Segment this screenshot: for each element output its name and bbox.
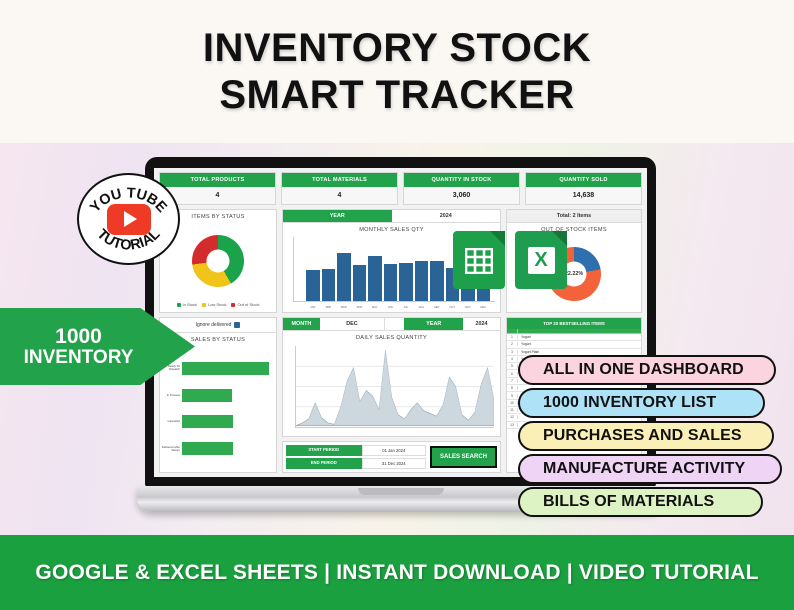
feature-badge-dashboard: ALL IN ONE DASHBOARD [518, 355, 776, 385]
hbar-row: In Process [182, 389, 272, 402]
kpi-card-total-materials: TOTAL MATERIALS 4 [281, 172, 398, 205]
feature-badge-manufacture: MANUFACTURE ACTIVITY [518, 454, 782, 484]
month-selector-value[interactable]: DEC [320, 318, 385, 330]
hbar-label: Cancelled [161, 420, 180, 423]
excel-x-glyph: X [528, 247, 555, 274]
hbar-row: Cancelled [182, 415, 272, 428]
year-selector[interactable]: YEAR 2024 [283, 210, 500, 223]
bar-may: MAY [368, 256, 382, 301]
hbar-delivered-after-return [182, 442, 233, 455]
bar-aug: AUG [415, 261, 429, 301]
ignore-delivered-checkbox[interactable]: Ignore delivered [160, 318, 276, 333]
hbar-cancelled [182, 415, 233, 428]
svg-text:YOU TUBE: YOU TUBE [87, 185, 170, 216]
month-year-selectors[interactable]: MONTH DEC YEAR 2024 [283, 318, 500, 331]
hbar-ready-for-dispatch [182, 362, 269, 375]
svg-text:TUTORIAL: TUTORIAL [94, 226, 164, 254]
hero-section: TOTAL PRODUCTS 4 TOTAL MATERIALS 4 QUANT… [0, 143, 794, 535]
end-period-row[interactable]: END PERIOD 31 Dec 2024 [286, 458, 426, 469]
youtube-tutorial-badge[interactable]: YOU TUBE TUTORIAL [77, 173, 180, 265]
start-period-row[interactable]: START PERIOD 01 Jan 2024 [286, 445, 426, 456]
feature-badges: ALL IN ONE DASHBOARD 1000 INVENTORY LIST… [518, 355, 794, 517]
hbar-in-process [182, 389, 232, 402]
kpi-title: QUANTITY IN STOCK [404, 173, 519, 187]
list-item[interactable]: 1Yogurt [507, 334, 641, 341]
panel-daily-sales-group: MONTH DEC YEAR 2024 DAILY SALES QUANTITY [282, 317, 501, 473]
area-chart-svg [296, 346, 494, 427]
feature-badge-inventory-list: 1000 INVENTORY LIST [518, 388, 765, 418]
kpi-value: 14,638 [526, 187, 641, 204]
kpi-card-quantity-sold: QUANTITY SOLD 14,638 [525, 172, 642, 205]
month-selector-label: MONTH [283, 318, 320, 330]
items-by-status-legend: In Stock Low Stock Out of Stock [160, 299, 276, 312]
title-line-1: INVENTORY STOCK [203, 26, 591, 71]
year-selector-value[interactable]: 2024 [392, 210, 501, 222]
page-header: INVENTORY STOCK SMART TRACKER [0, 0, 794, 143]
list-item[interactable]: 2Yogurt [507, 341, 641, 348]
legend-in-stock: In Stock [177, 302, 197, 307]
donut-percent-label: 22.22% [565, 271, 583, 277]
youtube-badge-bottom-text: TUTORIAL [94, 226, 164, 254]
daily-sales-area-chart [295, 346, 494, 428]
end-period-label: END PERIOD [286, 458, 362, 469]
sheet-grid-glyph [465, 248, 493, 274]
legend-out-of-stock: Out of Stock [231, 302, 259, 307]
feature-badge-bills-of-materials: BILLS OF MATERIALS [518, 487, 763, 517]
period-fields: START PERIOD 01 Jan 2024 END PERIOD 31 D… [286, 445, 426, 469]
kpi-value: 4 [282, 187, 397, 204]
checkbox-icon[interactable] [234, 322, 240, 328]
youtube-badge-top-text: YOU TUBE [87, 185, 170, 216]
start-period-value[interactable]: 01 Jan 2024 [362, 445, 426, 456]
kpi-title: QUANTITY SOLD [526, 173, 641, 187]
badge-curved-text: YOU TUBE TUTORIAL [79, 175, 178, 263]
kpi-title: TOTAL MATERIALS [282, 173, 397, 187]
legend-low-stock: Low Stock [202, 302, 226, 307]
title-line-2: SMART TRACKER [219, 73, 574, 118]
dashboard-middle-row: ITEMS BY STATUS In Stock Low Stock Out o… [159, 209, 642, 313]
ignore-delivered-label: Ignore delivered [196, 322, 232, 328]
bar-sep: SEP [430, 261, 444, 301]
out-of-stock-total: Total: 2 Items [507, 210, 641, 223]
app-icons-group: X [453, 231, 567, 289]
hbar-label: In Process [161, 394, 180, 397]
page-footer: GOOGLE & EXCEL SHEETS | INSTANT DOWNLOAD… [0, 535, 794, 610]
kpi-row: TOTAL PRODUCTS 4 TOTAL MATERIALS 4 QUANT… [159, 172, 642, 205]
bar-feb: FEB [322, 269, 336, 301]
hbar-row: Ready for Dispatch [182, 362, 272, 375]
excel-icon: X [515, 231, 567, 289]
feature-badge-purchases-sales: PURCHASES AND SALES [518, 421, 774, 451]
banner-line-1: 1000 [55, 326, 102, 348]
google-sheets-icon [453, 231, 505, 289]
donut-chart [192, 235, 244, 287]
start-period-label: START PERIOD [286, 445, 362, 456]
kpi-card-quantity-in-stock: QUANTITY IN STOCK 3,060 [403, 172, 520, 205]
top-selling-title: TOP 20 BESTSELLING ITEMS [507, 318, 641, 329]
hbar-row: Delivered after Return [182, 442, 272, 455]
sales-search-button[interactable]: SALES SEARCH [430, 446, 497, 468]
daily-sales-title: DAILY SALES QUANTITY [283, 331, 500, 343]
kpi-value: 3,060 [404, 187, 519, 204]
period-search-box: START PERIOD 01 Jan 2024 END PERIOD 31 D… [282, 441, 501, 473]
bar-jul: JUL [399, 263, 413, 301]
panel-daily-sales: MONTH DEC YEAR 2024 DAILY SALES QUANTITY [282, 317, 501, 437]
hbar-label: Delivered after Return [161, 446, 180, 452]
bar-jan: JAN [306, 270, 320, 301]
year-selector-label: YEAR [283, 210, 392, 222]
end-period-value[interactable]: 31 Dec 2024 [362, 458, 426, 469]
year-selector2-value[interactable]: 2024 [463, 318, 500, 330]
bar-mar: MAR [337, 253, 351, 301]
bar-jun: JUN [384, 264, 398, 301]
bar-apr: APR [353, 265, 367, 301]
sales-by-status-chart: Ready for Dispatch In Process Cancelled [160, 345, 276, 472]
banner-line-2: INVENTORY [24, 348, 134, 368]
laptop-notch [358, 488, 444, 495]
year-selector2-label: YEAR [404, 318, 463, 330]
